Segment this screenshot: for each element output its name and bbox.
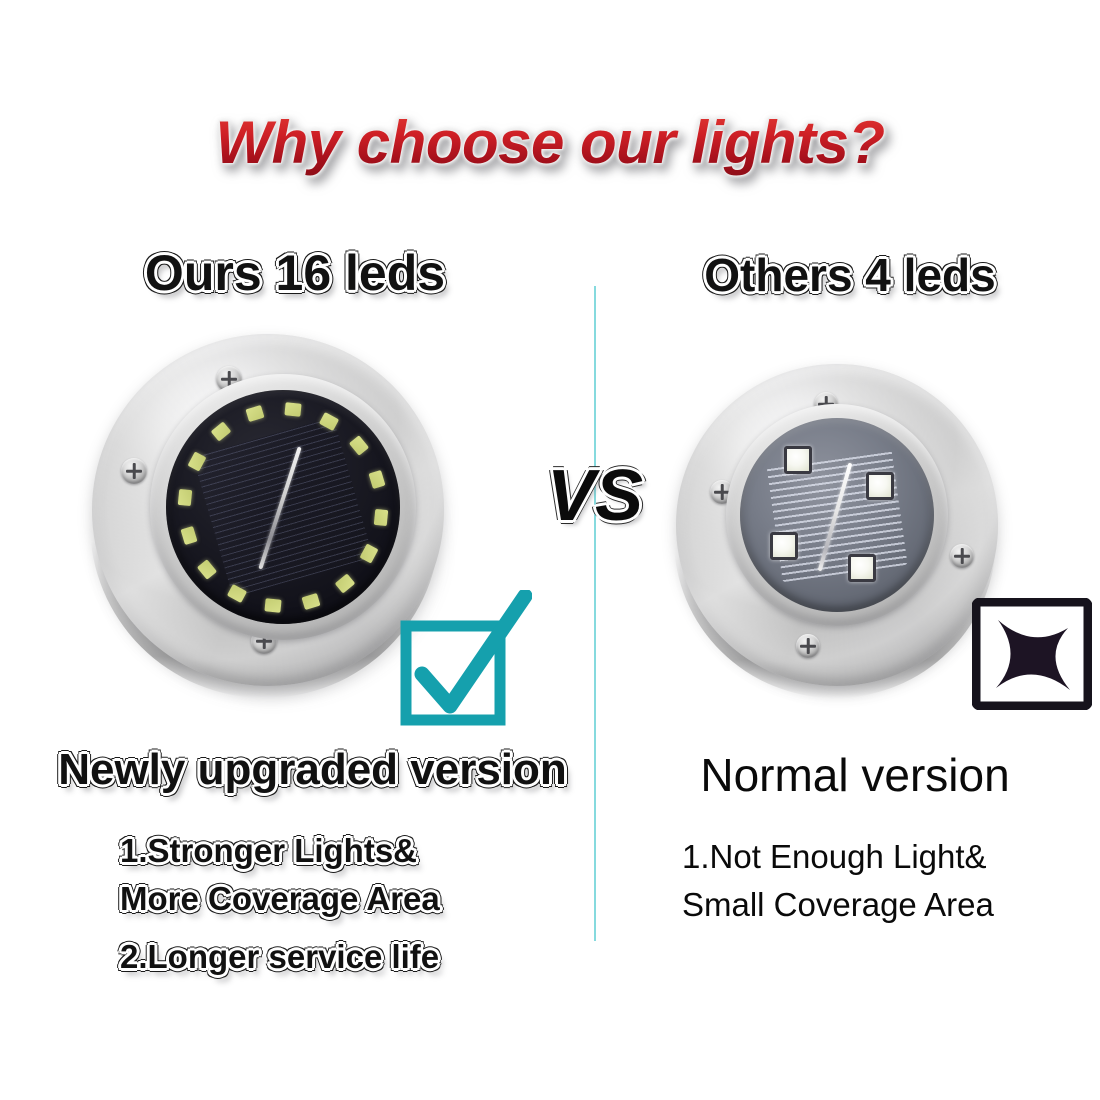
infographic-canvas: Why choose our lights? Ours 16 leds Othe…	[0, 0, 1100, 1100]
led-light	[284, 403, 301, 418]
led-light	[211, 422, 232, 442]
solar-panel-dark	[166, 390, 400, 624]
right-bullet-2: Small Coverage Area	[682, 886, 1100, 924]
screw-icon	[121, 458, 147, 484]
solar-cell	[193, 417, 374, 598]
led-light	[335, 573, 356, 593]
led-light	[373, 509, 388, 526]
left-column-header: Ours 16 leds	[0, 244, 590, 302]
left-bullet-1: 1.Stronger Lights&	[120, 832, 540, 870]
page-title: Why choose our lights?	[0, 108, 1100, 177]
led-light	[368, 470, 385, 489]
led-light	[245, 405, 264, 422]
screw-icon	[796, 634, 820, 658]
right-column-header: Others 4 leds	[600, 248, 1100, 302]
left-subtitle: Newly upgraded version	[35, 745, 590, 795]
left-bullet-2: More Coverage Area	[120, 880, 540, 918]
led-light	[848, 554, 876, 582]
left-bullet-3: 2.Longer service life	[120, 938, 540, 976]
vs-label: VS	[505, 455, 685, 537]
screw-icon	[950, 544, 974, 568]
led-light	[866, 472, 894, 500]
product-image-others	[672, 362, 1008, 712]
solar-panel-gray	[740, 418, 934, 612]
led-light	[784, 446, 812, 474]
led-light	[770, 532, 798, 560]
x-icon	[972, 598, 1092, 710]
vertical-divider	[594, 286, 596, 941]
led-light	[178, 489, 193, 506]
check-icon	[392, 590, 532, 730]
led-light	[349, 435, 369, 456]
led-light	[197, 559, 217, 580]
right-bullet-1: 1.Not Enough Light&	[682, 838, 1100, 876]
led-light	[265, 598, 282, 613]
led-light	[181, 526, 198, 545]
right-subtitle: Normal version	[640, 748, 1070, 802]
led-light	[302, 593, 321, 610]
